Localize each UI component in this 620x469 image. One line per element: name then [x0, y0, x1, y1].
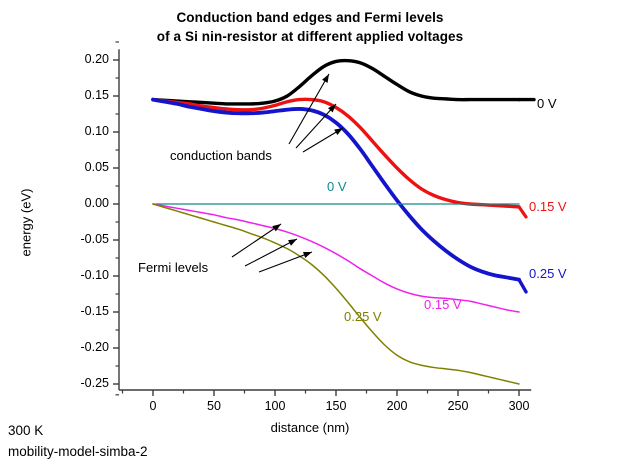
leader-red [519, 207, 526, 217]
annotation-zero-volt-flat: 0 V [327, 179, 347, 194]
y-axis-label: energy (eV) [19, 163, 34, 283]
x-tick-label: 0 [129, 399, 177, 413]
x-tick-label: 200 [373, 399, 421, 413]
inplot-label-magenta-015v: 0.15 V [424, 297, 462, 312]
series-label-blue-025v: 0.25 V [529, 266, 567, 281]
x-tick-label: 50 [190, 399, 238, 413]
annotation-conduction-bands: conduction bands [170, 148, 272, 163]
data-series [153, 61, 534, 384]
y-tick-label: 0.05 [57, 160, 109, 174]
arrow-conduction-band-blue [303, 128, 343, 152]
series-line-fermi-level-0-25-v [153, 204, 519, 384]
y-tick-label: -0.05 [57, 232, 109, 246]
x-tick-label: 250 [434, 399, 482, 413]
annotation-fermi-levels: Fermi levels [138, 260, 208, 275]
y-tick-label: 0.10 [57, 124, 109, 138]
y-tick-label: 0.15 [57, 88, 109, 102]
caption-temperature: 300 K [8, 423, 43, 438]
y-tick-label: -0.15 [57, 304, 109, 318]
figure: Conduction band edges and Fermi levels o… [0, 0, 620, 469]
leader-blue [519, 280, 526, 292]
axes [113, 42, 531, 396]
x-tick-label: 100 [251, 399, 299, 413]
x-tick-label: 150 [312, 399, 360, 413]
y-tick-label: -0.10 [57, 268, 109, 282]
y-tick-label: 0.20 [57, 52, 109, 66]
x-tick-label: 300 [495, 399, 543, 413]
x-axis-label: distance (nm) [0, 420, 620, 435]
series-label-black-0v: 0 V [537, 96, 557, 111]
y-tick-label: 0.00 [57, 196, 109, 210]
caption-model: mobility-model-simba-2 [8, 444, 148, 459]
y-tick-label: -0.20 [57, 340, 109, 354]
inplot-label-olive-025v: 0.25 V [344, 309, 382, 324]
series-label-red-015v: 0.15 V [529, 199, 567, 214]
y-tick-label: -0.25 [57, 376, 109, 390]
series-line-conduction-band-0-v [153, 61, 519, 104]
